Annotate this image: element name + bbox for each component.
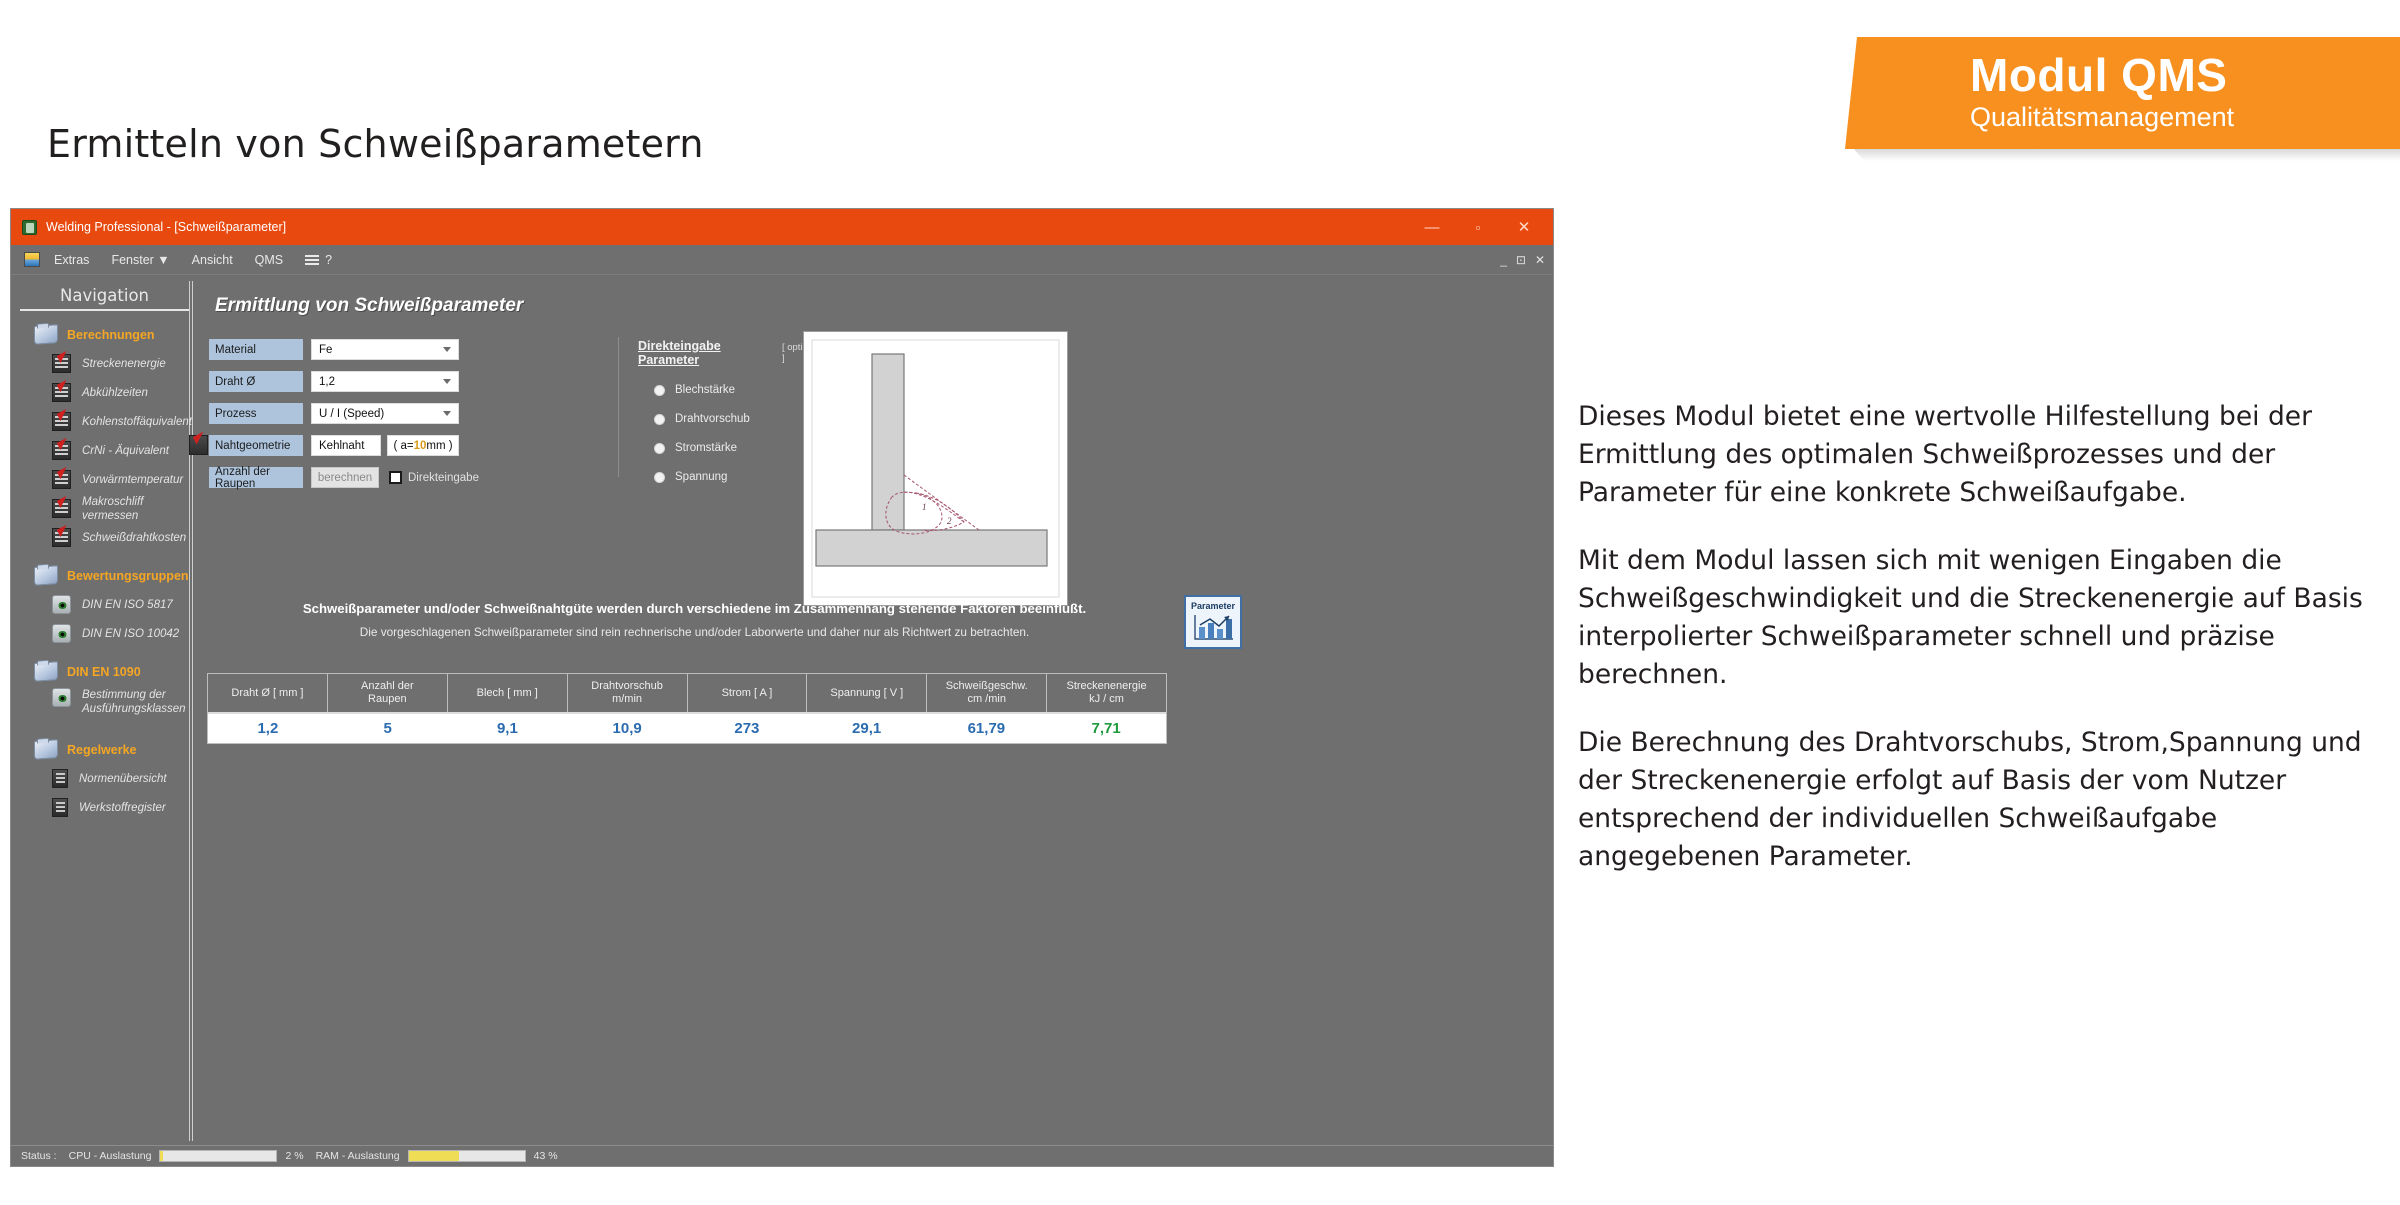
table-header-row: Draht Ø [ mm ] Anzahl der Raupen Blech [… — [208, 674, 1166, 712]
module-banner-shadow — [1854, 149, 2400, 161]
sidebar-header: Navigation — [20, 281, 189, 311]
chevron-down-icon — [443, 411, 451, 416]
mdi-window-controls: _ ⊡ ✕ — [1500, 245, 1545, 275]
sidebar-group-header-bewertungsgruppen[interactable]: Bewertungsgruppen — [20, 566, 189, 585]
form-row-nahtgeometrie: Nahtgeometrie Kehlnaht ( a= 10mm ) — [209, 435, 459, 456]
sidebar-group-header-berechnungen[interactable]: Berechnungen — [20, 325, 189, 344]
radio-option-drahtvorschub[interactable]: Drahtvorschub — [638, 413, 823, 425]
sidebar-item-label: Normenübersicht — [79, 772, 167, 786]
sidebar-item-crni-aequivalent[interactable]: CrNi - Äquivalent — [20, 436, 189, 465]
result-note-line1: Schweißparameter und/oder Schweißnahtgüt… — [207, 601, 1242, 616]
radio-label: Stromstärke — [675, 442, 737, 454]
chevron-down-icon — [443, 347, 451, 352]
table-header-strom: Strom [ A ] — [688, 674, 808, 712]
menu-item-fenster[interactable]: Fenster ▼ — [111, 253, 169, 267]
table-header-draht: Draht Ø [ mm ] — [208, 674, 328, 712]
sidebar-group-label: DIN EN 1090 — [67, 665, 141, 679]
sidebar-item-streckenenergie[interactable]: Streckenenergie — [20, 349, 189, 378]
table-header-spannung: Spannung [ V ] — [807, 674, 927, 712]
app-logo-icon — [22, 220, 37, 235]
sidebar-item-label: DIN EN ISO 10042 — [82, 627, 179, 641]
sheet-icon — [52, 499, 71, 518]
menubar: Extras Fenster ▼ Ansicht QMS ? _ ⊡ ✕ — [11, 245, 1553, 275]
app-icon[interactable] — [24, 252, 40, 267]
form-row-draht: Draht Ø 1,2 — [209, 371, 459, 392]
sheet-icon — [52, 412, 71, 431]
window-titlebar: Welding Professional - [Schweißparameter… — [11, 209, 1553, 245]
menu-item-qms[interactable]: QMS — [255, 253, 283, 267]
cell-drahtvorschub: 10,9 — [567, 714, 687, 743]
sidebar-item-schweissdrahtkosten[interactable]: Schweißdrahtkosten — [20, 523, 189, 552]
eye-icon — [52, 624, 71, 643]
form-divider — [618, 337, 619, 477]
sidebar-item-label: CrNi - Äquivalent — [82, 444, 169, 458]
radio-option-blechstaerke[interactable]: Blechstärke — [638, 384, 823, 396]
sheet-icon — [189, 435, 208, 455]
material-value: Fe — [319, 344, 332, 356]
cpu-label: CPU - Auslastung — [69, 1150, 152, 1162]
mdi-restore-icon[interactable]: ⊡ — [1516, 253, 1526, 267]
table-header-streckenenergie: Streckenenergie kJ / cm — [1047, 674, 1166, 712]
menu-item-help[interactable]: ? — [325, 253, 332, 267]
berechnen-button[interactable]: berechnen — [311, 467, 379, 488]
table-header-blech: Blech [ mm ] — [448, 674, 568, 712]
result-note-line2: Die vorgeschlagenen Schweißparameter sin… — [207, 625, 1242, 639]
sidebar-item-label: Werkstoffregister — [79, 801, 166, 815]
direkteingabe-checkbox[interactable] — [389, 471, 402, 484]
cell-draht: 1,2 — [208, 714, 328, 743]
sheet-icon — [52, 383, 71, 402]
cpu-usage: CPU - Auslastung 2 % — [69, 1150, 304, 1162]
form-row-anzahl-raupen: Anzahl der Raupen berechnen Direkteingab… — [209, 467, 459, 488]
description-paragraph-1: Dieses Modul bietet eine wertvolle Hilfe… — [1578, 398, 2388, 512]
content-pane: Ermittlung von Schweißparameter Material… — [192, 281, 1547, 1141]
module-banner-subtitle: Qualitätsmanagement — [1970, 102, 2234, 133]
mdi-minimize-icon[interactable]: _ — [1500, 253, 1507, 267]
chevron-down-icon — [443, 379, 451, 384]
sidebar-item-normenuebersicht[interactable]: Normenübersicht — [20, 764, 189, 793]
result-note: Schweißparameter und/oder Schweißnahtgüt… — [207, 601, 1242, 639]
parameter-chart-button[interactable]: Parameter — [1184, 595, 1242, 649]
maximize-icon[interactable]: ▫ — [1455, 209, 1501, 245]
radio-label: Blechstärke — [675, 384, 735, 396]
form-row-material: Material Fe — [209, 339, 459, 360]
description-paragraph-2: Mit dem Modul lassen sich mit wenigen Ei… — [1578, 542, 2388, 694]
nahtgeometrie-value[interactable]: Kehlnaht — [311, 435, 381, 456]
module-description: Dieses Modul bietet eine wertvolle Hilfe… — [1578, 398, 2388, 876]
direkteingabe-label: Direkteingabe — [408, 472, 479, 484]
cell-schweissgeschw: 61,79 — [927, 714, 1047, 743]
cpu-value: 2 % — [285, 1150, 303, 1162]
direct-entry-title: Direkteingabe Parameter — [638, 339, 776, 367]
prozess-select[interactable]: U / I (Speed) — [311, 403, 459, 424]
sidebar-item-din-en-iso-5817[interactable]: DIN EN ISO 5817 — [20, 590, 189, 619]
sidebar-group-bewertungsgruppen: Bewertungsgruppen DIN EN ISO 5817 DIN EN… — [20, 566, 189, 648]
radio-label: Drahtvorschub — [675, 413, 750, 425]
direct-entry-panel: Direkteingabe Parameter [ optional ] Ble… — [638, 339, 823, 483]
sidebar-group-berechnungen: Berechnungen Streckenenergie Abkühlzeite… — [20, 325, 189, 552]
document-icon — [52, 798, 68, 817]
sheet-icon — [52, 470, 71, 489]
folder-icon — [34, 565, 58, 586]
sidebar-group-label: Regelwerke — [67, 743, 136, 757]
sidebar-item-label: Abkühlzeiten — [82, 386, 148, 400]
table-header-drahtvorschub: Drahtvorschub m/min — [568, 674, 688, 712]
window-title: Welding Professional - [Schweißparameter… — [46, 220, 286, 234]
sidebar-item-label: Kohlenstoffäquivalent — [82, 415, 192, 429]
sidebar-item-makroschliff-vermessen[interactable]: Makroschliff vermessen — [20, 494, 189, 523]
nahtgeometrie-a-mass[interactable]: ( a= 10mm ) — [387, 435, 459, 456]
sidebar-group-regelwerke: Regelwerke Normenübersicht Werkstoffregi… — [20, 740, 189, 822]
sidebar-item-label: Bestimmung der Ausführungsklassen — [82, 688, 187, 716]
radio-option-spannung[interactable]: Spannung — [638, 471, 823, 483]
radio-option-stromstaerke[interactable]: Stromstärke — [638, 442, 823, 454]
prozess-value: U / I (Speed) — [319, 408, 384, 420]
hamburger-icon[interactable] — [305, 255, 319, 265]
table-header-raupen: Anzahl der Raupen — [328, 674, 448, 712]
mdi-close-icon[interactable]: ✕ — [1535, 253, 1545, 267]
menu-item-ansicht[interactable]: Ansicht — [192, 253, 233, 267]
sidebar-group-label: Berechnungen — [67, 328, 155, 342]
sidebar-group-header-regelwerke[interactable]: Regelwerke — [20, 740, 189, 759]
sheet-icon — [52, 528, 71, 547]
sidebar: Navigation Berechnungen Streckenenergie … — [20, 281, 190, 1141]
sidebar-item-bestimmung-ausfuehrungsklassen[interactable]: Bestimmung der Ausführungsklassen — [20, 686, 189, 726]
radio-label: Spannung — [675, 471, 727, 483]
sidebar-item-din-en-iso-10042[interactable]: DIN EN ISO 10042 — [20, 619, 189, 648]
cell-blech: 9,1 — [448, 714, 568, 743]
table-row: 1,2 5 9,1 10,9 273 29,1 61,79 7,71 — [208, 712, 1166, 743]
module-banner-title: Modul QMS — [1970, 48, 2227, 102]
sidebar-item-vorwaermtemperatur[interactable]: Vorwärmtemperatur — [20, 465, 189, 494]
fillet-weld-diagram: 1 2 — [803, 331, 1068, 606]
sidebar-item-abkuehlzeiten[interactable]: Abkühlzeiten — [20, 378, 189, 407]
draht-durchmesser-label: Draht Ø — [209, 371, 303, 392]
direkteingabe-checkbox-wrap[interactable]: Direkteingabe — [389, 471, 479, 484]
anzahl-raupen-label: Anzahl der Raupen — [209, 467, 303, 488]
table-header-schweissgeschw: Schweißgeschw. cm /min — [927, 674, 1047, 712]
application-window: Welding Professional - [Schweißparameter… — [10, 208, 1554, 1167]
nahtgeometrie-label: Nahtgeometrie — [209, 435, 303, 456]
description-paragraph-3: Die Berechnung des Drahtvorschubs, Strom… — [1578, 724, 2388, 876]
status-label: Status : — [21, 1150, 57, 1162]
material-select[interactable]: Fe — [311, 339, 459, 360]
close-icon[interactable]: ✕ — [1501, 209, 1547, 245]
sidebar-item-label: Streckenenergie — [82, 357, 166, 371]
ram-value: 43 % — [534, 1150, 558, 1162]
svg-text:1: 1 — [922, 502, 927, 512]
cpu-meter — [159, 1150, 277, 1162]
folder-icon — [34, 739, 58, 760]
sidebar-group-din-en-1090: DIN EN 1090 Bestimmung der Ausführungskl… — [20, 662, 189, 726]
parameter-form: Material Fe Draht Ø 1,2 — [209, 339, 459, 499]
folder-icon — [34, 661, 58, 682]
ram-meter — [408, 1150, 526, 1162]
draht-durchmesser-select[interactable]: 1,2 — [311, 371, 459, 392]
draht-durchmesser-value: 1,2 — [319, 376, 335, 388]
form-title: Ermittlung von Schweißparameter — [215, 295, 523, 317]
menu-item-extras[interactable]: Extras — [54, 253, 89, 267]
ram-label: RAM - Auslastung — [316, 1150, 400, 1162]
eye-icon — [52, 688, 71, 707]
radio-icon[interactable] — [654, 472, 665, 483]
prozess-label: Prozess — [209, 403, 303, 424]
window-controls: — ▫ ✕ — [1409, 209, 1547, 245]
a-mass-suffix: mm ) — [426, 440, 452, 452]
cell-raupen: 5 — [328, 714, 448, 743]
results-table: Draht Ø [ mm ] Anzahl der Raupen Blech [… — [207, 673, 1167, 744]
sidebar-item-werkstoffregister[interactable]: Werkstoffregister — [20, 793, 189, 822]
cell-spannung: 29,1 — [807, 714, 927, 743]
slide-root: Ermitteln von Schweißparametern Modul QM… — [0, 0, 2400, 1205]
cell-streckenenergie: 7,71 — [1046, 714, 1166, 743]
folder-icon — [34, 324, 58, 345]
sidebar-item-label: Makroschliff vermessen — [82, 495, 189, 523]
direct-entry-header: Direkteingabe Parameter [ optional ] — [638, 339, 823, 367]
bar-chart-icon — [1191, 611, 1235, 643]
window-body: Navigation Berechnungen Streckenenergie … — [11, 275, 1553, 1147]
sidebar-item-label: Schweißdrahtkosten — [82, 531, 186, 545]
sidebar-item-kohlenstoffaequivalent[interactable]: Kohlenstoffäquivalent — [20, 407, 189, 436]
sidebar-item-label: Vorwärmtemperatur — [82, 473, 183, 487]
eye-icon — [52, 595, 71, 614]
a-mass-prefix: ( a= — [393, 440, 413, 452]
sheet-icon — [52, 354, 71, 373]
sheet-icon — [52, 441, 71, 460]
radio-icon[interactable] — [654, 385, 665, 396]
parameter-chart-label: Parameter — [1191, 601, 1235, 611]
sidebar-item-label: DIN EN ISO 5817 — [82, 598, 173, 612]
radio-icon[interactable] — [654, 443, 665, 454]
ram-usage: RAM - Auslastung 43 % — [316, 1150, 558, 1162]
statusbar: Status : CPU - Auslastung 2 % RAM - Ausl… — [11, 1145, 1553, 1166]
page-title: Ermitteln von Schweißparametern — [47, 122, 704, 166]
a-mass-value: 10 — [414, 440, 427, 452]
svg-text:2: 2 — [947, 516, 952, 526]
document-icon — [52, 769, 68, 788]
cell-strom: 273 — [687, 714, 807, 743]
sidebar-group-label: Bewertungsgruppen — [67, 569, 189, 583]
weld-joint-svg: 1 2 — [804, 332, 1067, 605]
radio-icon[interactable] — [654, 414, 665, 425]
minimize-icon[interactable]: — — [1409, 209, 1455, 245]
form-row-prozess: Prozess U / I (Speed) — [209, 403, 459, 424]
sidebar-group-header-din-en-1090[interactable]: DIN EN 1090 — [20, 662, 189, 681]
material-label: Material — [209, 339, 303, 360]
